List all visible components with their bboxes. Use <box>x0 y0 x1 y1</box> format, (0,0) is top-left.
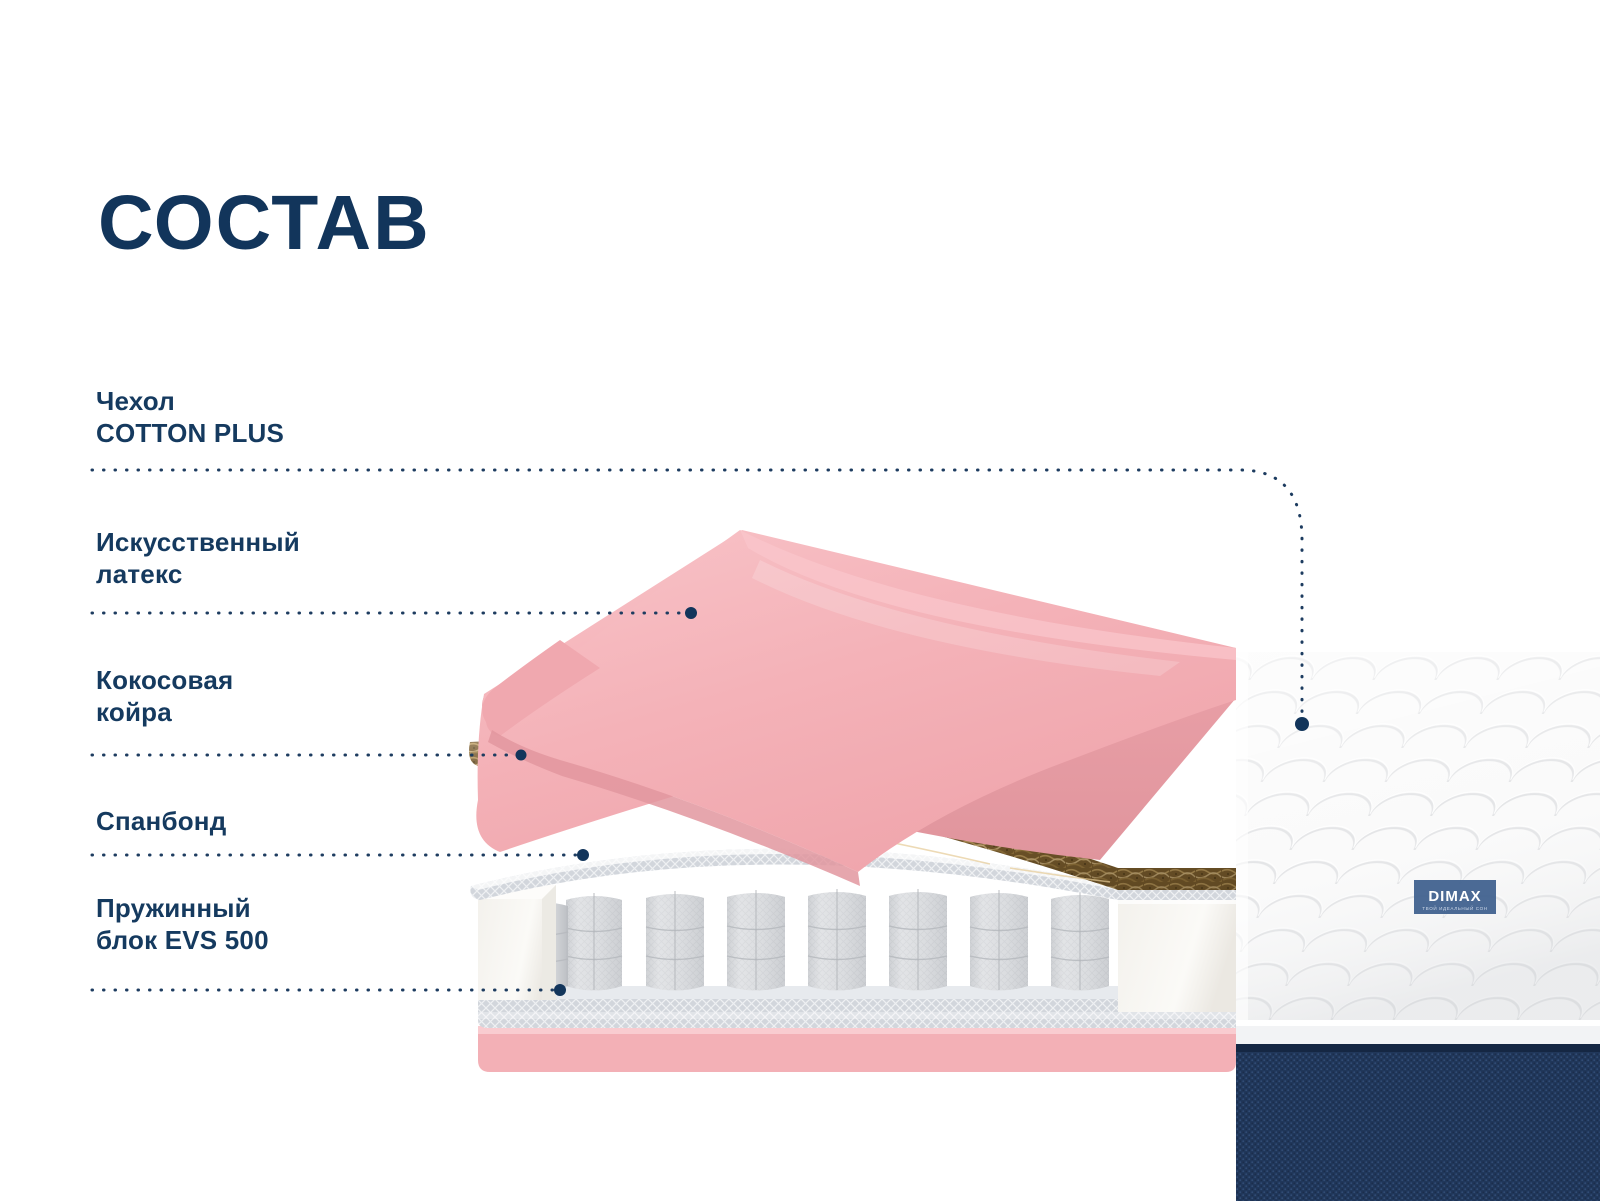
leader-dot-cover <box>1295 717 1309 731</box>
leader-dot-spring <box>554 984 566 996</box>
label-artificial-latex: Искусственный латекс <box>96 527 300 590</box>
label-spunbond: Спанбонд <box>96 806 226 838</box>
label-spring-block: Пружинный блок EVS 500 <box>96 893 269 956</box>
leader-dot-coir <box>516 750 527 761</box>
composition-infographic: DIMAX ТВОЙ ИДЕАЛЬНЫЙ СОН СОСТАВ Чехол CO… <box>0 0 1600 1201</box>
label-coconut-coir: Кокосовая койра <box>96 665 233 728</box>
leader-dot-latex <box>685 607 697 619</box>
leader-dot-spunbond <box>577 849 589 861</box>
page-title: СОСТАВ <box>98 185 431 262</box>
leader-line-cover <box>92 470 1302 716</box>
label-cover: Чехол COTTON PLUS <box>96 386 284 449</box>
